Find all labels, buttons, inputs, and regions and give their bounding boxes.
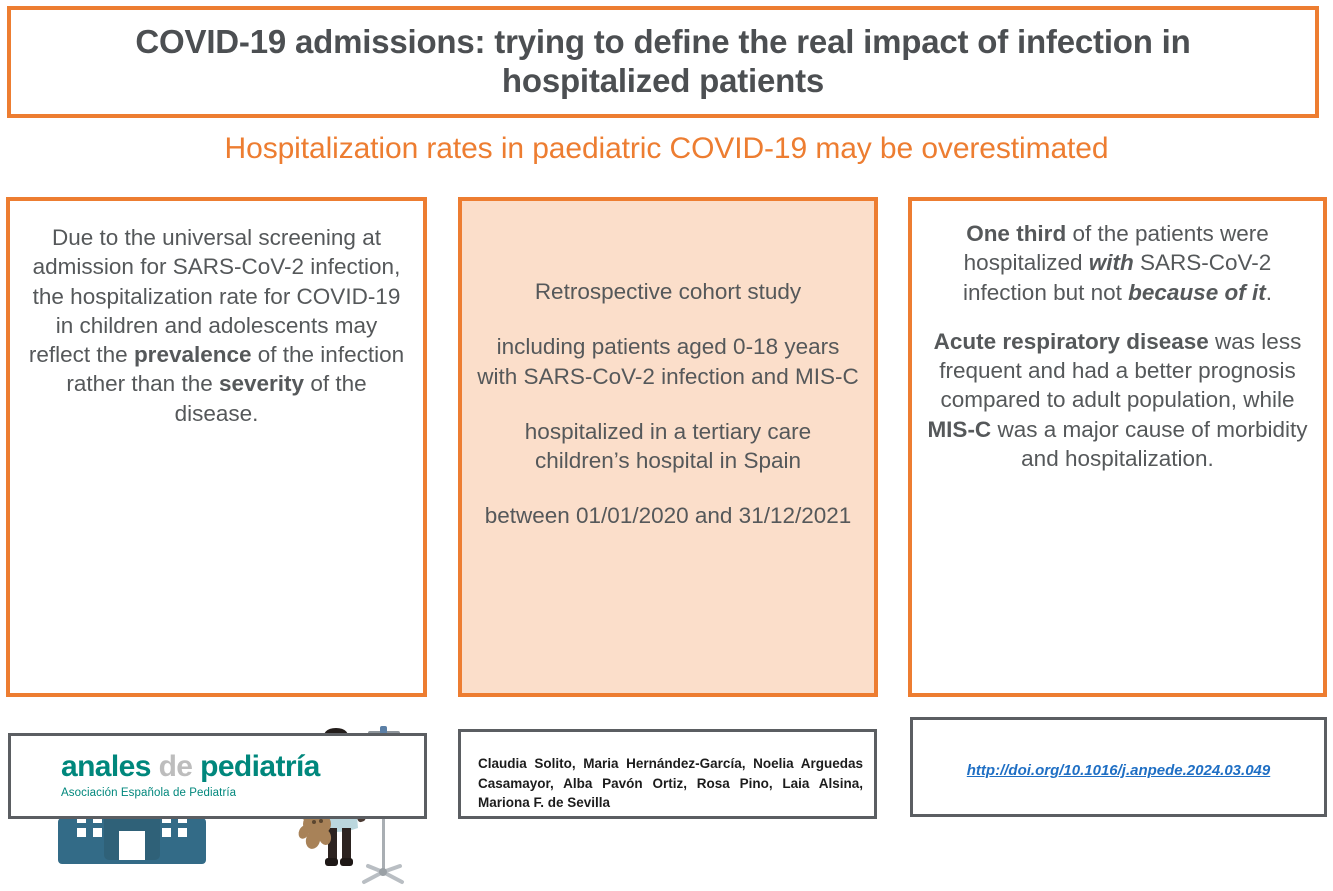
paragraph: hospitalized in a tertiary care children… (476, 417, 860, 476)
doi-box: http://doi.org/10.1016/j.anpede.2024.03.… (910, 717, 1327, 817)
journal-logo: anales de pediatría Asociación Española … (61, 752, 320, 799)
panel-middle-text: Retrospective cohort study including pat… (462, 201, 874, 531)
paragraph: Acute respiratory disease was less frequ… (926, 327, 1309, 473)
panel-background-left: Due to the universal screening at admiss… (6, 197, 427, 697)
authors-box: Claudia Solito, Maria Hernández-García, … (458, 729, 877, 819)
title-box: COVID-19 admissions: trying to define th… (7, 6, 1319, 118)
author-list: Claudia Solito, Maria Hernández-García, … (478, 754, 863, 813)
panel-background-right: One third of the patients were hospitali… (908, 197, 1327, 697)
journal-logo-wordmark: anales de pediatría (61, 752, 320, 782)
panel-background-middle: Retrospective cohort study including pat… (458, 197, 878, 697)
doi-link[interactable]: http://doi.org/10.1016/j.anpede.2024.03.… (913, 762, 1324, 779)
subtitle: Hospitalization rates in paediatric COVI… (0, 132, 1333, 166)
panel-right-text: One third of the patients were hospitali… (912, 201, 1323, 473)
logo-word-pediatria: pediatría (200, 750, 320, 783)
logo-word-de: de (159, 750, 193, 783)
paragraph: including patients aged 0-18 years with … (476, 332, 860, 391)
panel-left-text: Due to the universal screening at admiss… (10, 201, 423, 428)
logo-word-anales: anales (61, 750, 151, 783)
paragraph: between 01/01/2020 and 31/12/2021 (476, 501, 860, 530)
paragraph: One third of the patients were hospitali… (926, 219, 1309, 307)
page-title: COVID-19 admissions: trying to define th… (11, 23, 1315, 101)
paragraph: Retrospective cohort study (476, 277, 860, 306)
paragraph: Due to the universal screening at admiss… (24, 223, 409, 428)
journal-logo-tagline: Asociación Española de Pediatría (61, 787, 320, 799)
journal-logo-box: anales de pediatría Asociación Española … (8, 733, 427, 819)
